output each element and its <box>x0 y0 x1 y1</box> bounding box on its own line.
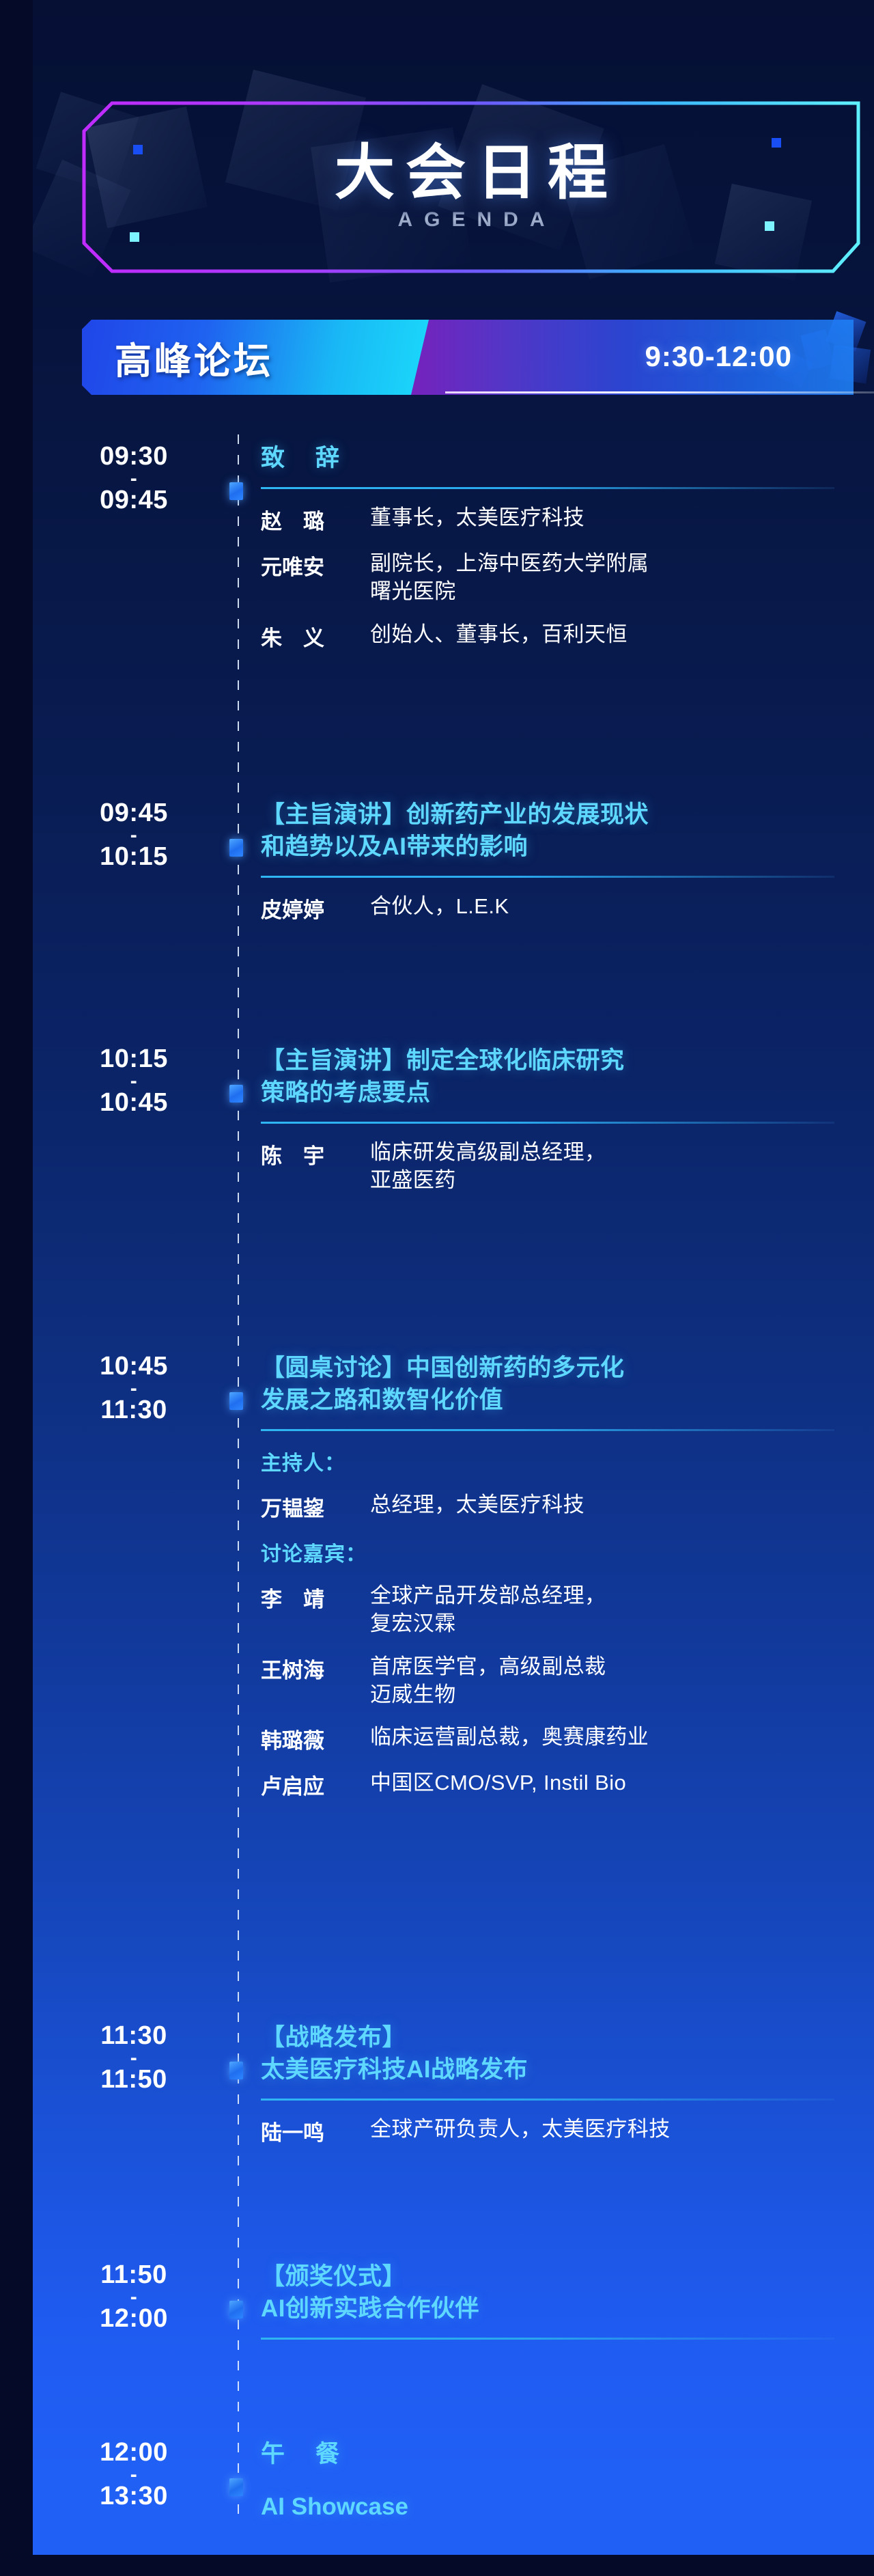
speaker-title-line: 副院长，上海中医药大学附属 <box>370 550 649 578</box>
session-title-line: 发展之路和数智化价值 <box>261 1385 862 1417</box>
session-body: 【主旨演讲】制定全球化临床研究策略的考虑要点陈 宇临床研发高级副总经理，亚盛医药 <box>261 1045 862 1195</box>
session-body: 【颁奖仪式】AI创新实践合作伙伴 <box>261 2261 862 2342</box>
session-body: 午 餐AI Showcase <box>261 2439 862 2523</box>
speaker-title-line: 首席医学官，高级副总裁 <box>370 1653 606 1681</box>
speaker-title-line: 亚盛医药 <box>370 1167 606 1195</box>
session-body: 致 辞赵 璐董事长，太美医疗科技元唯安副院长，上海中医药大学附属曙光医院朱 义创… <box>261 443 862 652</box>
session-end-time: 10:45 <box>60 1089 208 1117</box>
speaker-row: 李 靖全球产品开发部总经理，复宏汉霖 <box>261 1582 862 1638</box>
speaker-title: 中国区CMO/SVP, Instil Bio <box>370 1769 626 1800</box>
session-body: 【圆桌讨论】中国创新药的多元化发展之路和数智化价值主持人：万韫鋆总经理，太美医疗… <box>261 1353 862 1800</box>
agenda-panel: 大会日程 AGENDA 高峰论坛 9:30-12:00 09:30-09:45致… <box>33 0 874 2555</box>
session-title-line: 【主旨演讲】制定全球化临床研究 <box>261 1045 862 1077</box>
session-start-time: 09:45 <box>60 799 208 827</box>
session-start-time: 10:15 <box>60 1045 208 1073</box>
session-start-time: 12:00 <box>60 2439 208 2467</box>
session-title-line: 策略的考虑要点 <box>261 1077 862 1109</box>
session-time: 10:15-10:45 <box>60 1045 208 1117</box>
session-time-dash: - <box>60 827 208 843</box>
timeline-marker <box>229 839 243 857</box>
session-divider <box>261 1122 834 1124</box>
session-title-line: 【战略发布】 <box>261 2022 862 2054</box>
session-body: 【战略发布】太美医疗科技AI战略发布陆一鸣全球产研负责人，太美医疗科技 <box>261 2022 862 2146</box>
speaker-row: 韩璐薇临床运营副总裁，奥赛康药业 <box>261 1723 862 1754</box>
session-time: 10:45-11:30 <box>60 1353 208 1424</box>
forum-header: 高峰论坛 9:30-12:00 <box>82 314 874 403</box>
session-start-time: 11:50 <box>60 2261 208 2289</box>
session-title-line: 致 辞 <box>261 443 862 475</box>
timeline-marker <box>229 2478 243 2496</box>
session-end-time: 12:00 <box>60 2305 208 2333</box>
session-start-time: 10:45 <box>60 1353 208 1381</box>
speaker-title: 临床研发高级副总经理，亚盛医药 <box>370 1139 606 1195</box>
session-end-time: 10:15 <box>60 843 208 871</box>
speaker-name: 皮婷婷 <box>261 893 370 924</box>
session-time-dash: - <box>60 471 208 486</box>
speaker-name: 陈 宇 <box>261 1139 370 1195</box>
session-time: 11:30-11:50 <box>60 2022 208 2094</box>
session-time-dash: - <box>60 1073 208 1089</box>
speaker-title: 临床运营副总裁，奥赛康药业 <box>370 1723 649 1754</box>
speaker-title-line: 全球产品开发部总经理， <box>370 1582 606 1610</box>
session-time: 09:30-09:45 <box>60 443 208 514</box>
title-text-zone: 大会日程 AGENDA <box>82 101 860 273</box>
speaker-title-line: 复宏汉霖 <box>370 1610 606 1638</box>
session-divider <box>261 1429 834 1431</box>
speaker-row: 王树海首席医学官，高级副总裁迈威生物 <box>261 1653 862 1709</box>
speaker-title: 董事长，太美医疗科技 <box>370 504 584 535</box>
title-frame: 大会日程 AGENDA <box>82 101 860 273</box>
session-title-line: 【颁奖仪式】 <box>261 2261 862 2293</box>
session-title-line: 和趋势以及AI带来的影响 <box>261 831 862 863</box>
speaker-name: 万韫鋆 <box>261 1491 370 1522</box>
session-title-line: 【圆桌讨论】中国创新药的多元化 <box>261 1353 862 1385</box>
session-divider <box>261 876 834 878</box>
speaker-title-line: 迈威生物 <box>370 1681 606 1709</box>
timeline-marker <box>229 1392 243 1410</box>
page-subtitle: AGENDA <box>386 208 556 232</box>
forum-name-label: 高峰论坛 <box>115 331 273 385</box>
speaker-name: 元唯安 <box>261 550 370 606</box>
session-start-time: 11:30 <box>60 2022 208 2050</box>
session-time: 11:50-12:00 <box>60 2261 208 2333</box>
speaker-name: 韩璐薇 <box>261 1723 370 1754</box>
speaker-title: 副院长，上海中医药大学附属曙光医院 <box>370 550 649 606</box>
timeline-axis <box>238 434 239 2518</box>
speaker-row: 陈 宇临床研发高级副总经理，亚盛医药 <box>261 1139 862 1195</box>
forum-name-chip: 高峰论坛 <box>82 320 429 395</box>
forum-underline <box>445 391 874 393</box>
speaker-row: 卢启应中国区CMO/SVP, Instil Bio <box>261 1769 862 1800</box>
session-title-line: 午 餐 <box>261 2439 862 2471</box>
session-time-dash: - <box>60 1381 208 1396</box>
session-end-time: 09:45 <box>60 486 208 514</box>
speaker-title: 总经理，太美医疗科技 <box>370 1491 584 1522</box>
session-divider <box>261 2338 834 2340</box>
speaker-title: 创始人、董事长，百利天恒 <box>370 621 628 652</box>
speaker-row: 元唯安副院长，上海中医药大学附属曙光医院 <box>261 550 862 606</box>
timeline-marker <box>229 2062 243 2079</box>
speaker-name: 朱 义 <box>261 621 370 652</box>
speaker-group-label: 讨论嘉宾： <box>261 1537 862 1567</box>
session-title-line: AI Showcase <box>261 2491 862 2523</box>
speaker-row: 赵 璐董事长，太美医疗科技 <box>261 504 862 535</box>
speaker-title-line: 曙光医院 <box>370 578 649 606</box>
session-end-time: 11:30 <box>60 1396 208 1424</box>
speaker-name: 王树海 <box>261 1653 370 1709</box>
forum-time-range: 9:30-12:00 <box>645 340 792 373</box>
timeline-marker <box>229 2301 243 2318</box>
session-time: 09:45-10:15 <box>60 799 208 871</box>
session-divider <box>261 487 834 489</box>
session-title-line: 太美医疗科技AI战略发布 <box>261 2054 862 2086</box>
speaker-name: 卢启应 <box>261 1769 370 1800</box>
speaker-row: 皮婷婷合伙人，L.E.K <box>261 893 862 924</box>
speaker-title-line: 临床研发高级副总经理， <box>370 1139 606 1167</box>
speaker-title: 全球产研负责人，太美医疗科技 <box>370 2116 671 2146</box>
agenda-poster: 大会日程 AGENDA 高峰论坛 9:30-12:00 09:30-09:45致… <box>0 0 874 2576</box>
session-end-time: 11:50 <box>60 2066 208 2094</box>
session-time-dash: - <box>60 2289 208 2305</box>
timeline-marker <box>229 1085 243 1103</box>
speaker-name: 赵 璐 <box>261 504 370 535</box>
speaker-row: 陆一鸣全球产研负责人，太美医疗科技 <box>261 2116 862 2146</box>
speaker-row: 朱 义创始人、董事长，百利天恒 <box>261 621 862 652</box>
page-title: 大会日程 <box>324 143 619 203</box>
session-time: 12:00-13:30 <box>60 2439 208 2510</box>
speaker-name: 陆一鸣 <box>261 2116 370 2146</box>
timeline-marker <box>229 482 243 500</box>
session-body: 【主旨演讲】创新药产业的发展现状和趋势以及AI带来的影响皮婷婷合伙人，L.E.K <box>261 799 862 924</box>
speaker-group-label: 主持人： <box>261 1446 862 1476</box>
speaker-name: 李 靖 <box>261 1582 370 1638</box>
session-divider <box>261 2099 834 2101</box>
speaker-title: 合伙人，L.E.K <box>370 893 509 924</box>
session-end-time: 13:30 <box>60 2482 208 2510</box>
speaker-title: 全球产品开发部总经理，复宏汉霖 <box>370 1582 606 1638</box>
speaker-title: 首席医学官，高级副总裁迈威生物 <box>370 1653 606 1709</box>
session-start-time: 09:30 <box>60 443 208 471</box>
session-time-dash: - <box>60 2050 208 2066</box>
session-time-dash: - <box>60 2467 208 2482</box>
session-title-line: 【主旨演讲】创新药产业的发展现状 <box>261 799 862 831</box>
session-title-line: AI创新实践合作伙伴 <box>261 2293 862 2325</box>
speaker-row: 万韫鋆总经理，太美医疗科技 <box>261 1491 862 1522</box>
